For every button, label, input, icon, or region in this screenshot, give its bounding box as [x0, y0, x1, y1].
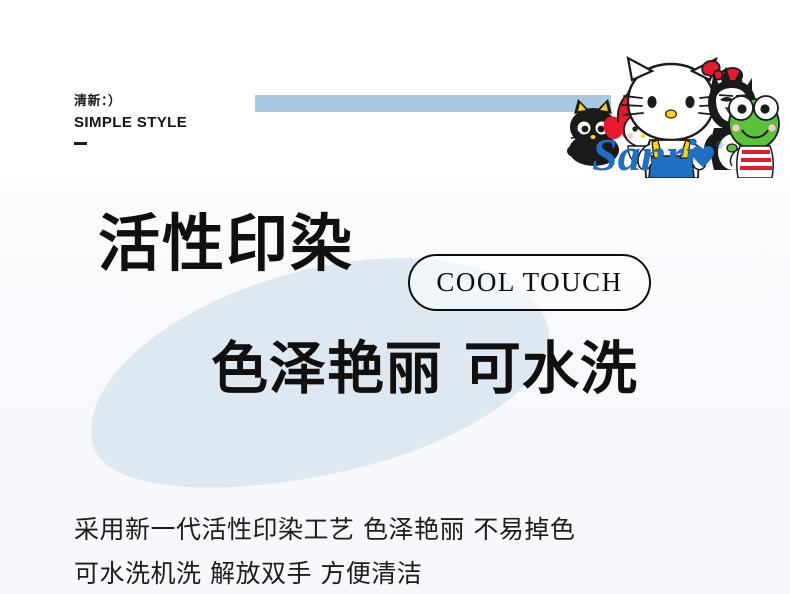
header-tagline-cn: 清新：）: [74, 94, 187, 109]
hero-headline-primary: 活性印染: [98, 210, 354, 278]
banner-header: 清新：） SIMPLE STYLE: [0, 0, 790, 178]
cool-touch-badge: COOL TOUCH: [408, 254, 651, 311]
body-copy-line-2: 可水洗机洗 解放双手 方便清洁: [74, 552, 575, 594]
header-divider-dash: [74, 142, 87, 145]
sanrio-logo: Sanri ®: [566, 52, 784, 178]
body-copy-block: 采用新一代活性印染工艺 色泽艳丽 不易掉色 可水洗机洗 解放双手 方便清洁: [74, 508, 575, 594]
body-copy-line-1: 采用新一代活性印染工艺 色泽艳丽 不易掉色: [74, 508, 575, 552]
sanrio-trademark-mark: ®: [716, 140, 723, 150]
sanrio-logo-artwork: Sanri ®: [566, 52, 784, 178]
hero-headline-secondary: 色泽艳丽 可水洗: [211, 338, 638, 400]
promo-banner: 清新：） SIMPLE STYLE: [0, 0, 790, 594]
sanrio-wordmark: Sanri ®: [592, 129, 723, 178]
header-accent-bar: [255, 95, 611, 112]
sanrio-wordmark-text: Sanri: [592, 129, 697, 178]
cool-touch-badge-label: COOL TOUCH: [436, 267, 622, 298]
header-tagline-en: SIMPLE STYLE: [74, 113, 187, 133]
header-tagline-group: 清新：） SIMPLE STYLE: [74, 94, 187, 145]
